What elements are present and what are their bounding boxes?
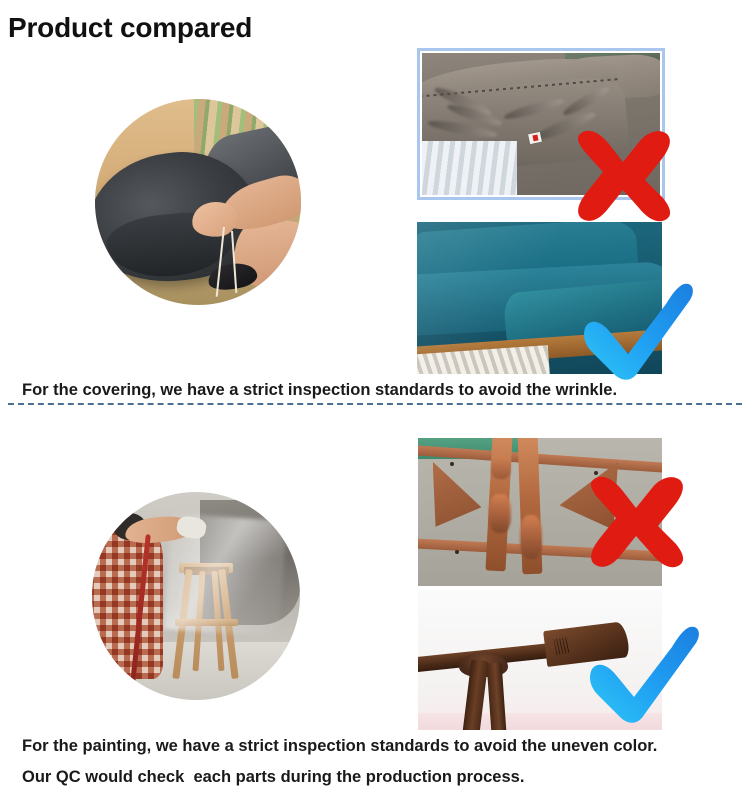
approve-check-icon-covering — [580, 282, 698, 382]
page-title: Product compared — [8, 12, 252, 44]
screw-hole — [450, 462, 454, 466]
caption-painting: For the painting, we have a strict inspe… — [22, 737, 657, 756]
background-curtain — [422, 141, 517, 195]
wood-grain-detail — [553, 636, 570, 654]
infographic-page: Product compared — [0, 0, 750, 800]
caption-covering: For the covering, we have a strict inspe… — [22, 381, 617, 400]
label-red-mark — [533, 134, 539, 141]
uneven-color-blotch — [489, 494, 511, 532]
section-divider — [8, 403, 742, 405]
worker-plaid-shirt — [92, 525, 163, 679]
photo-worker-spray-painting-stool — [92, 492, 300, 700]
approve-check-icon-painting — [586, 625, 704, 725]
caption-qc-process: Our QC would check each parts during the… — [22, 768, 524, 787]
reject-cross-icon-painting — [580, 468, 692, 568]
photo-worker-fitting-sofa-cover — [95, 99, 301, 305]
uneven-color-blotch — [520, 515, 542, 559]
fabric-label-tag — [528, 131, 542, 143]
reject-cross-icon-covering — [567, 122, 679, 222]
uneven-color-blotch — [491, 456, 511, 480]
